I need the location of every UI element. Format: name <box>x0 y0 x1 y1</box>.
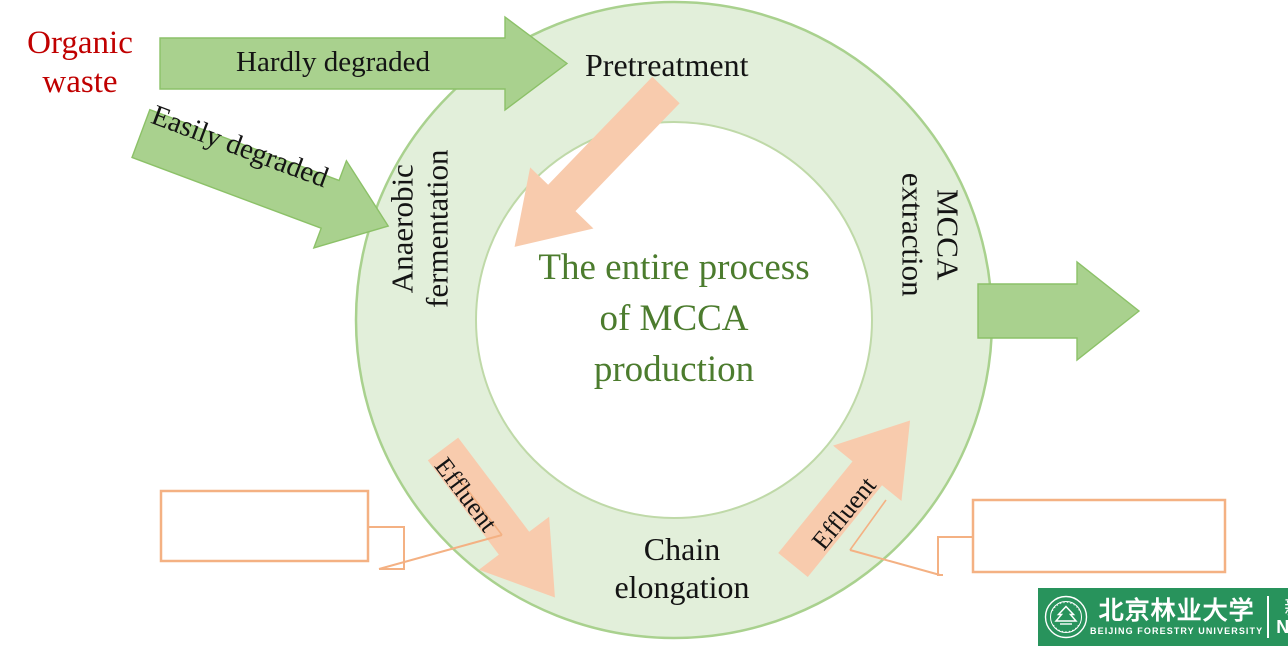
arrow-label-hardly-degraded: Hardly degraded <box>236 47 430 78</box>
logo-divider <box>1267 596 1269 638</box>
mcca-extraction-line-2: extraction <box>895 120 930 350</box>
center-title: The entire process of MCCA production <box>492 242 856 395</box>
logo-name-english: BEIJING FORESTRY UNIVERSITY <box>1090 626 1263 636</box>
logo-university-name: 北京林业大学 BEIJING FORESTRY UNIVERSITY <box>1088 598 1263 636</box>
center-title-line-1: The entire process <box>492 242 856 293</box>
chain-elongation-line-2: elongation <box>614 569 749 605</box>
stage-label-anaerobic-fermentation: Anaerobic fermentation <box>385 109 454 349</box>
logo-section-news: 新闻 NEWS <box>1276 597 1288 637</box>
mcca-extraction-line-1: MCCA <box>930 120 965 350</box>
logo-news-english: NEWS <box>1276 618 1288 637</box>
chain-elongation-line-1: Chain <box>644 531 720 567</box>
anaerobic-fermentation-line-2: fermentation <box>420 109 455 349</box>
organic-waste-line-2: waste <box>42 64 117 100</box>
logo-news-chinese: 新闻 <box>1284 597 1288 618</box>
anaerobic-fermentation-line-1: Anaerobic <box>385 109 420 349</box>
input-label-organic-waste: Organic waste <box>10 24 150 102</box>
beijing-forestry-university-news-logo: 北京林业大学 BEIJING FORESTRY UNIVERSITY 新闻 NE… <box>1038 588 1288 646</box>
stage-label-pretreatment: Pretreatment <box>585 48 748 83</box>
stage-label-chain-elongation: Chain elongation <box>592 531 772 607</box>
diagram-canvas: Organic waste Hardly degraded Easily deg… <box>0 0 1288 646</box>
stage-label-mcca-extraction: MCCA extraction <box>895 120 964 350</box>
organic-waste-line-1: Organic <box>27 25 133 61</box>
center-title-line-2: of MCCA <box>492 293 856 344</box>
center-title-line-3: production <box>492 344 856 395</box>
logo-name-chinese: 北京林业大学 <box>1099 598 1255 624</box>
university-seal-icon <box>1044 595 1088 639</box>
arrow-mcca-output <box>978 262 1139 360</box>
